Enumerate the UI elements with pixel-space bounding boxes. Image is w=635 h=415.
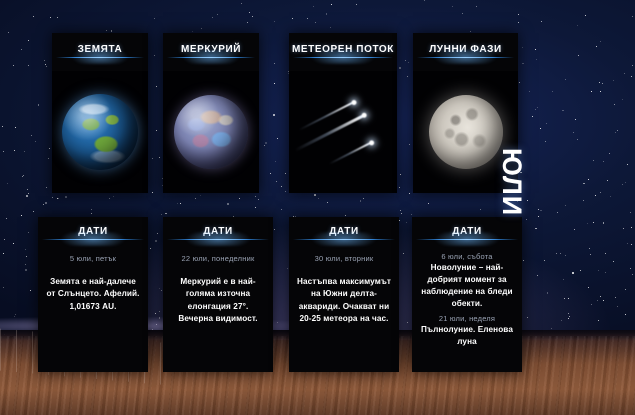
top-card-earth[interactable]: ЗЕМЯТА — [52, 33, 148, 193]
poster-canvas: ЗЕМЯТА МЕРКУРИЙ МЕТЕОРЕН ПОТОК ЛУННИ ФАЗ… — [0, 0, 635, 415]
bottom-card-meteor-dates[interactable]: ДАТИ 30 юли, вторник Настъпва максимумът… — [289, 217, 399, 372]
dates-body: 5 юли, петък Земята е най-далече от Слън… — [38, 243, 148, 317]
date-label: 22 юли, понеделник — [170, 254, 266, 263]
date-description: Новолуние – най-добрият момент за наблюд… — [419, 262, 515, 311]
date-label: 21 юли, неделя — [419, 314, 515, 323]
dates-body: 22 юли, понеделник Меркурий е в най-голя… — [163, 243, 273, 330]
glow-divider — [413, 55, 518, 61]
date-label: 6 юли, събота — [419, 252, 515, 261]
earth-globe-image — [52, 71, 148, 193]
glow-divider — [38, 237, 148, 243]
dates-body: 6 юли, събота Новолуние – най-добрият мо… — [412, 243, 522, 352]
bottom-card-mercury-dates[interactable]: ДАТИ 22 юли, понеделник Меркурий е в най… — [163, 217, 273, 372]
top-card-meteor-shower[interactable]: МЕТЕОРЕН ПОТОК — [289, 33, 397, 193]
date-description: Пълнолуние. Еленова луна — [419, 324, 515, 348]
glow-divider — [163, 237, 273, 243]
top-card-mercury[interactable]: МЕРКУРИЙ — [163, 33, 259, 193]
mercury-planet-image — [163, 71, 259, 193]
glow-divider — [163, 55, 259, 61]
bottom-card-earth-dates[interactable]: ДАТИ 5 юли, петък Земята е най-далече от… — [38, 217, 148, 372]
date-description: Меркурий е в най-голяма източна елонгаци… — [170, 276, 266, 326]
mercury-icon — [174, 95, 248, 169]
glow-divider — [289, 55, 397, 61]
glow-divider — [289, 237, 399, 243]
glow-divider — [412, 237, 522, 243]
month-label: ЮЛИ — [496, 148, 527, 216]
bottom-card-moon-dates[interactable]: ДАТИ 6 юли, събота Новолуние – най-добри… — [412, 217, 522, 372]
glow-divider — [52, 55, 148, 61]
date-description: Земята е най-далече от Слънцето. Афелий.… — [45, 276, 141, 313]
meteor-icon — [289, 71, 397, 193]
date-label: 5 юли, петък — [45, 254, 141, 263]
date-label: 30 юли, вторник — [296, 254, 392, 263]
moon-icon — [429, 95, 503, 169]
dates-body: 30 юли, вторник Настъпва максимумът на Ю… — [289, 243, 399, 330]
meteor-shower-image — [289, 71, 397, 193]
date-description: Настъпва максимумът на Южни делта-аквари… — [296, 276, 392, 326]
earth-icon — [62, 94, 138, 170]
